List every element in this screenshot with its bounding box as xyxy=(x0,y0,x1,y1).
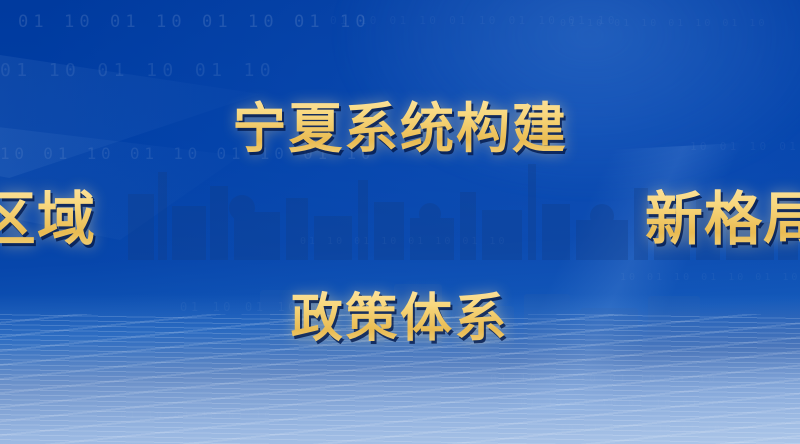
headline-group: 宁夏系统构建 区域 经济高质量发展 新格局 政策体系 xyxy=(0,0,800,444)
top-glow-decoration xyxy=(330,0,800,200)
headline-line-1: 宁夏系统构建 xyxy=(0,84,800,163)
binary-pattern-row: 10 01 10 01 10 01 10 01 10 xyxy=(0,144,375,163)
binary-pattern-row: 01 10 01 10 01 10 xyxy=(0,60,276,81)
binary-pattern-row: 01 10 01 10 01 10 01 10 xyxy=(300,236,507,247)
bottom-sweep-lines xyxy=(0,314,800,444)
binary-pattern-row: 10 01 10 01 10 01 10 xyxy=(690,140,800,153)
bottom-scan-lines xyxy=(0,314,800,444)
left-wedge-secondary-decoration xyxy=(0,120,240,240)
industrial-skyline-silhouette xyxy=(110,128,800,260)
headline-line-3: 政策体系 xyxy=(0,276,800,351)
policy-poster-banner: 01 10 01 10 01 10 01 1001 10 01 10 01 10… xyxy=(0,0,800,444)
binary-pattern-row: 10 01 10 01 10 01 10 xyxy=(560,424,722,434)
lower-city-silhouette xyxy=(250,236,720,346)
right-diagonal-streak-decoration xyxy=(374,138,800,422)
binary-pattern-row: 10 01 10 01 10 01 10 01 10 xyxy=(620,272,800,283)
binary-pattern-row: 01 10 01 10 01 10 01 10 xyxy=(560,18,767,29)
binary-pattern-row: 01 10 01 10 01 10 xyxy=(180,300,364,314)
binary-pattern-row: 01 10 01 10 01 10 01 10 xyxy=(18,12,371,32)
binary-pattern-row: 01 10 01 10 01 10 xyxy=(120,410,273,421)
headline-line-2-emphasis: 经济高质量发展 xyxy=(109,176,631,253)
headline-line-2: 区域 经济高质量发展 新格局 xyxy=(0,172,800,256)
headline-line-2-prefix: 区域 xyxy=(0,172,96,256)
binary-pattern-row: 01 10 01 10 01 10 01 10 xyxy=(490,372,718,385)
binary-pattern-row: 01 10 01 10 01 10 01 10 xyxy=(520,398,727,409)
headline-line-2-suffix: 新格局 xyxy=(645,172,800,256)
bottom-gradient-band xyxy=(0,294,800,444)
left-wedge-decoration xyxy=(0,28,260,178)
binary-pattern-row: 01 10 01 10 01 10 01 10 01 10 xyxy=(330,14,618,27)
